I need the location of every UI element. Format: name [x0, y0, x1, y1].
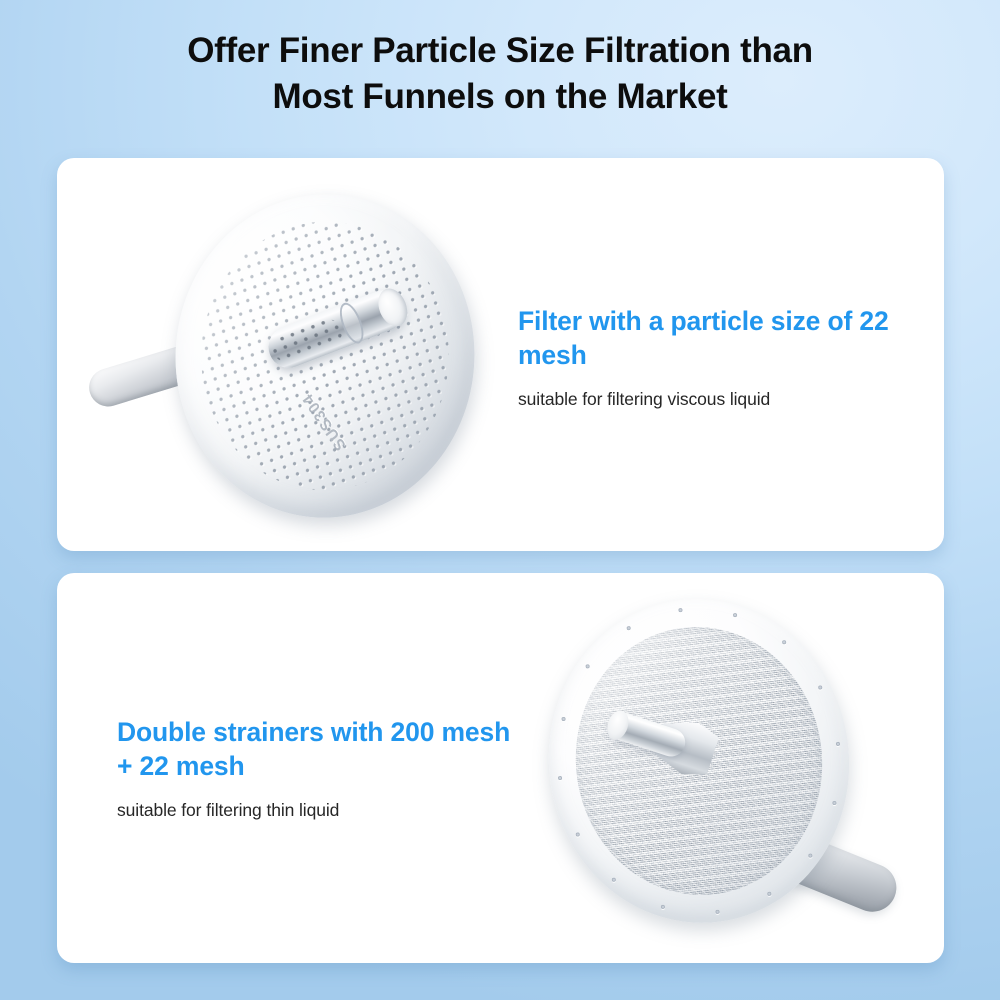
headline-line-1: Offer Finer Particle Size Filtration tha… — [187, 31, 813, 70]
feature-title-1: Filter with a particle size of 22 mesh — [518, 304, 918, 373]
feature-text-block-2: Double strainers with 200 mesh + 22 mesh… — [117, 715, 517, 823]
feature-card-2: Double strainers with 200 mesh + 22 mesh… — [57, 573, 944, 963]
feature-title-2: Double strainers with 200 mesh + 22 mesh — [117, 715, 517, 784]
feature-subtitle-1: suitable for filtering viscous liquid — [518, 388, 918, 412]
perforation-pattern — [170, 187, 480, 524]
product-image-perforated-strainer: SUS304 — [82, 178, 502, 533]
infographic-page: Offer Finer Particle Size Filtration tha… — [0, 0, 1000, 1000]
feature-card-1: SUS304 Filter with a particle size of 22… — [57, 158, 944, 551]
headline-line-2: Most Funnels on the Market — [0, 74, 1000, 120]
feature-text-block-1: Filter with a particle size of 22 mesh s… — [518, 304, 918, 412]
feature-subtitle-2: suitable for filtering thin liquid — [117, 799, 517, 823]
page-headline: Offer Finer Particle Size Filtration tha… — [0, 28, 1000, 119]
product-image-mesh-strainer — [519, 591, 929, 941]
